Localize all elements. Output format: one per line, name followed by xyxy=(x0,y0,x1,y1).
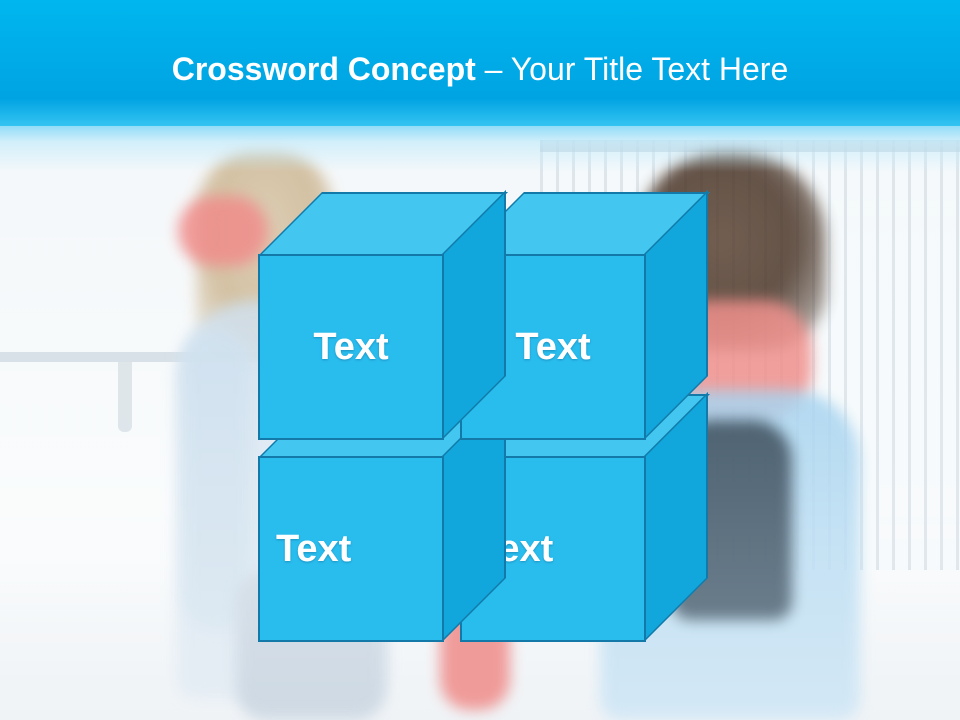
page-title: Crossword Concept – Your Title Text Here xyxy=(0,50,960,88)
cube-top-left-label: Text xyxy=(258,254,444,440)
slide-canvas: Crossword Concept – Your Title Text Here… xyxy=(0,0,960,720)
title-banner-glow xyxy=(0,126,960,172)
cube-bottom-left-label: Text xyxy=(258,456,444,642)
page-title-light: Your Title Text Here xyxy=(511,51,788,87)
page-title-bold: Crossword Concept xyxy=(172,51,476,87)
photo-child-left-pink-sleeve xyxy=(178,196,268,266)
background-rail-post xyxy=(118,362,132,432)
page-title-separator: – xyxy=(476,51,511,87)
